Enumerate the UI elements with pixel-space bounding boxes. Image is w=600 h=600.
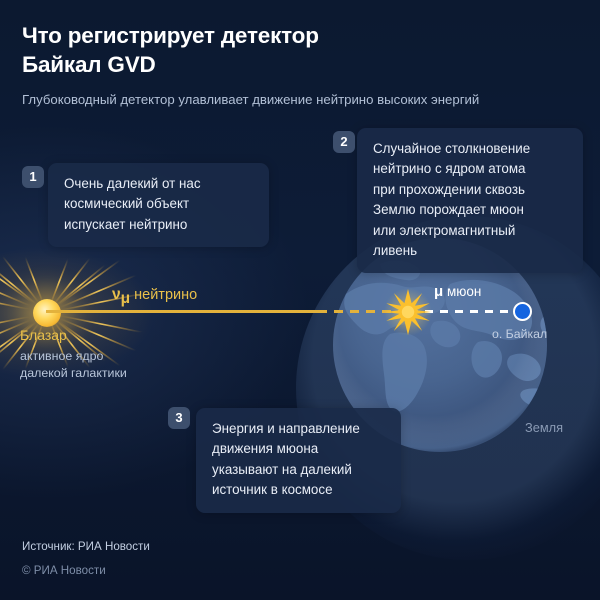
infographic-canvas: νμ нейтрино μ мюон о. Байкал Блазар акти…	[0, 0, 600, 600]
neutrino-symbol: ν	[112, 286, 121, 303]
callout-2-badge: 2	[333, 131, 355, 153]
blazar-label: Блазар	[20, 327, 67, 343]
footer: Источник: РИА Новости © РИА Новости	[22, 540, 150, 577]
neutrino-subscript: μ	[121, 290, 130, 307]
header: Что регистрирует детектор Байкал GVD Глу…	[22, 22, 552, 111]
callout-box-3: Энергия и направление движения мюона ука…	[196, 408, 401, 513]
copyright-line: © РИА Новости	[22, 564, 150, 577]
source-line: Источник: РИА Новости	[22, 540, 150, 553]
blazar-sublabel: активное ядро далекой галактики	[20, 348, 127, 382]
muon-path-dashed	[425, 310, 517, 313]
muon-symbol: μ	[434, 283, 443, 300]
muon-label-text: мюон	[447, 284, 481, 299]
blazar-core	[33, 299, 61, 327]
neutrino-label: νμ нейтрино	[112, 286, 197, 308]
muon-label: μ мюон	[434, 283, 481, 300]
page-title-line-1: Что регистрирует детектор	[22, 23, 319, 48]
page-subtitle: Глубоководный детектор улавливает движен…	[22, 90, 542, 110]
detector-label: о. Байкал	[492, 327, 547, 341]
neutrino-label-text: нейтрино	[134, 287, 197, 303]
earth-label: Земля	[525, 420, 563, 435]
callout-box-2: Случайное столкновение нейтрино с ядром …	[357, 128, 583, 273]
neutrino-path-solid	[46, 310, 320, 313]
collision-star-icon	[384, 288, 432, 336]
baikal-detector-dot[interactable]	[513, 302, 532, 321]
callout-box-1: Очень далекий от нас космический объект …	[48, 163, 269, 247]
collision-star-svg	[384, 288, 432, 336]
callout-2-text: Случайное столкновение нейтрино с ядром …	[357, 128, 583, 273]
callout-1-badge: 1	[22, 166, 44, 188]
callout-3-badge: 3	[168, 407, 190, 429]
callout-3-text: Энергия и направление движения мюона ука…	[196, 408, 401, 513]
page-title: Что регистрирует детектор Байкал GVD	[22, 22, 552, 79]
page-title-line-2: Байкал GVD	[22, 52, 156, 77]
callout-1-text: Очень далекий от нас космический объект …	[48, 163, 269, 247]
